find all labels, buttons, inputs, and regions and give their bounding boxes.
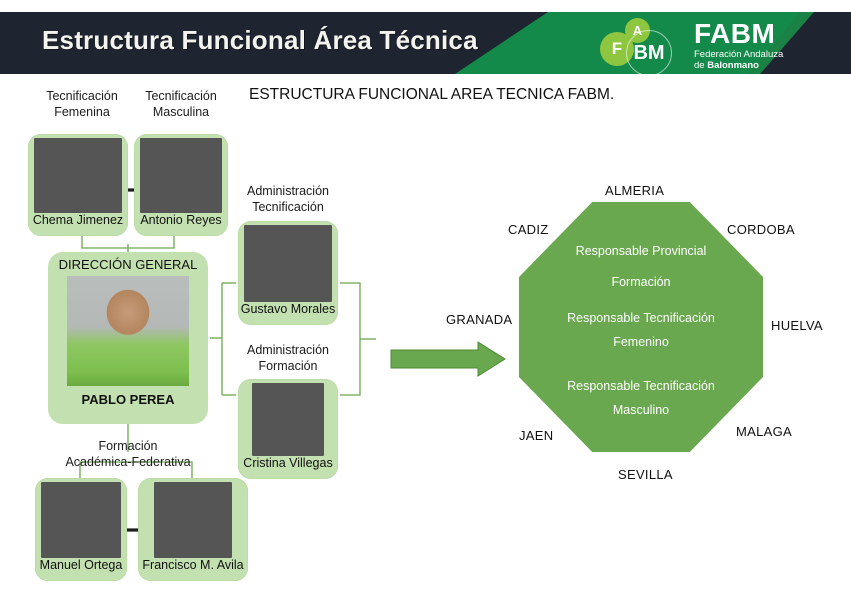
label-formacion-academica-federativa: Formación Académica-Federativa (63, 438, 193, 470)
octagon-role-4: Femenino (519, 335, 763, 349)
person-name-manuel-ortega: Manuel Ortega (40, 558, 123, 573)
octagon-role-2: Formación (519, 275, 763, 289)
label-administracion-tecnificacion-line2: Tecnificación (238, 199, 338, 215)
octagon-role-3: Responsable Tecnificación (519, 311, 763, 325)
person-card-gustavo-morales[interactable]: Gustavo Morales (238, 221, 338, 325)
avatar-manuel-ortega (41, 482, 121, 558)
avatar-antonio-reyes (140, 138, 222, 213)
province-label-cadiz: CADIZ (508, 222, 549, 237)
province-label-granada: GRANADA (446, 312, 512, 327)
label-administracion-tecnificacion-line1: Administración (238, 183, 338, 199)
person-card-francisco-avila[interactable]: Francisco M. Avila (138, 478, 248, 581)
person-name-pablo-perea: PABLO PEREA (82, 392, 175, 407)
avatar-francisco-avila (154, 482, 232, 558)
province-label-sevilla: SEVILLA (618, 467, 673, 482)
label-administracion-tecnificacion: Administración Tecnificación (238, 183, 338, 215)
avatar-chema-jimenez (34, 138, 122, 213)
province-label-malaga: MALAGA (736, 424, 792, 439)
label-tecnificacion-femenina-line1: Tecnificación (32, 88, 132, 104)
label-tecnificacion-masculina-line2: Masculina (131, 104, 231, 120)
person-name-gustavo-morales: Gustavo Morales (241, 302, 335, 317)
avatar-gustavo-morales (244, 225, 332, 302)
octagon-role-1: Responsable Provincial (519, 244, 763, 258)
person-name-antonio-reyes: Antonio Reyes (140, 213, 221, 228)
label-tecnificacion-femenina-line2: Femenina (32, 104, 132, 120)
person-name-chema-jimenez: Chema Jimenez (33, 213, 123, 228)
avatar-pablo-perea (67, 276, 189, 386)
person-card-pablo-perea[interactable]: DIRECCIÓN GENERAL PABLO PEREA (48, 252, 208, 424)
label-administracion-formacion-line1: Administración (238, 342, 338, 358)
person-card-chema-jimenez[interactable]: Chema Jimenez (28, 134, 128, 236)
label-direccion-general: DIRECCIÓN GENERAL (59, 257, 198, 272)
label-formacion-line1: Formación (63, 438, 193, 454)
label-tecnificacion-masculina: Tecnificación Masculina (131, 88, 231, 120)
person-name-francisco-avila: Francisco M. Avila (142, 558, 243, 573)
label-administracion-formacion-line2: Formación (238, 358, 338, 374)
label-tecnificacion-masculina-line1: Tecnificación (131, 88, 231, 104)
avatar-cristina-villegas (252, 383, 324, 456)
province-label-jaen: JAEN (519, 428, 553, 443)
label-administracion-formacion: Administración Formación (238, 342, 338, 374)
label-formacion-line2: Académica-Federativa (63, 454, 193, 470)
person-card-antonio-reyes[interactable]: Antonio Reyes (134, 134, 228, 236)
flow-arrow (391, 342, 505, 376)
province-label-huelva: HUELVA (771, 318, 823, 333)
province-label-cordoba: CORDOBA (727, 222, 795, 237)
octagon-role-5: Responsable Tecnificación (519, 379, 763, 393)
label-tecnificacion-femenina: Tecnificación Femenina (32, 88, 132, 120)
person-card-manuel-ortega[interactable]: Manuel Ortega (35, 478, 127, 581)
person-name-cristina-villegas: Cristina Villegas (243, 456, 332, 471)
person-card-cristina-villegas[interactable]: Cristina Villegas (238, 379, 338, 479)
province-label-almeria: ALMERIA (605, 183, 664, 198)
